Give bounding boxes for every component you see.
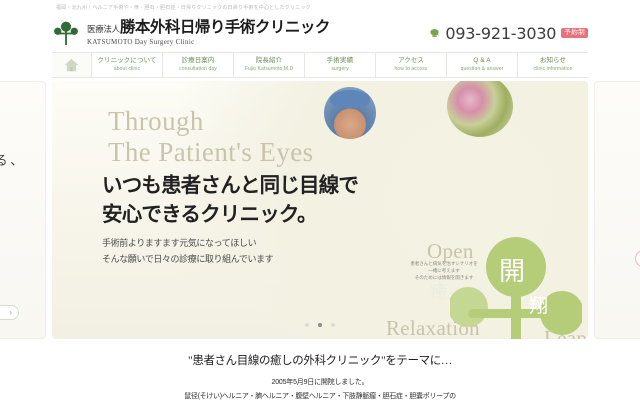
nav-label-en: question & answer bbox=[461, 67, 504, 72]
clinic-name: 勝本外科日帰り手術クリニック bbox=[120, 20, 330, 36]
carousel-slide-active[interactable]: Through The Patient's Eyes いつも患者さんと同じ目線で… bbox=[52, 81, 588, 339]
intro-title: "患者さん目線の癒しの外科クリニック"をテーマに… bbox=[0, 352, 640, 368]
carousel-dot-2[interactable] bbox=[318, 323, 322, 327]
nav-label-en: surgery bbox=[331, 67, 348, 72]
intro-services: 鼠径(そけい)ヘルニア・臍ヘルニア・腹壁ヘルニア・下肢静脈瘤・胆石症・胆嚢ポリー… bbox=[0, 391, 640, 400]
telephone-icon bbox=[429, 28, 440, 39]
concept-kanji-relaxation: 癒 bbox=[430, 284, 448, 302]
nav-item-director-profile[interactable]: 院長紹介 Fujio Katsumoto,M.D bbox=[234, 53, 305, 77]
hero-japanese-headline: いつも患者さんと同じ目線で 安心できるクリニック。 bbox=[102, 171, 358, 229]
nav-label-ja: 院長紹介 bbox=[256, 58, 282, 65]
peek-left-button[interactable]: › bbox=[0, 305, 19, 320]
intro-section: "患者さん目線の癒しの外科クリニック"をテーマに… 2005年5月9日に開院しま… bbox=[0, 339, 640, 400]
nav-item-consultation-day[interactable]: 診療日案内 consultation day bbox=[163, 53, 234, 77]
page-root: 福岡・北九州｜ヘルニア手術や・痔・胆石・胆石症・日帰りクリニックの日帰り手術を中… bbox=[0, 0, 640, 400]
concept-kanji-open: 開 bbox=[499, 259, 525, 285]
nav-label-en: Fujio Katsumoto,M.D bbox=[245, 67, 294, 72]
clinic-name-en: KATSUMOTO Day Surgery Clinic bbox=[87, 38, 330, 46]
nav-label-ja: アクセス bbox=[398, 58, 424, 65]
nav-label-ja: 診療日案内 bbox=[182, 58, 215, 65]
nav-item-home[interactable] bbox=[52, 53, 92, 77]
concept-english-leap: Leap bbox=[544, 326, 587, 339]
site-header: 医療法人 勝本外科日帰り手術クリニック KATSUMOTO Day Surger… bbox=[0, 14, 640, 52]
nav-label-ja: Q & A bbox=[473, 58, 490, 65]
doctor-photo bbox=[324, 87, 376, 139]
nav-item-surgery[interactable]: 手術実績 surgery bbox=[305, 53, 376, 77]
tree-logo-icon bbox=[52, 19, 80, 47]
nav-label-en: clinic information bbox=[533, 67, 572, 72]
carousel-dots bbox=[0, 323, 640, 327]
brand-logo-block[interactable]: 医療法人 勝本外科日帰り手術クリニック KATSUMOTO Day Surger… bbox=[52, 19, 330, 47]
carousel-dot-3[interactable] bbox=[331, 323, 335, 327]
nav-label-ja: クリニックについて bbox=[97, 58, 156, 65]
brand-text-block: 医療法人 勝本外科日帰り手術クリニック KATSUMOTO Day Surger… bbox=[87, 20, 330, 46]
top-description-bar: 福岡・北九州｜ヘルニア手術や・痔・胆石・胆石症・日帰りクリニックの日帰り手術を中… bbox=[0, 0, 640, 14]
top-description-text: 福岡・北九州｜ヘルニア手術や・痔・胆石・胆石症・日帰りクリニックの日帰り手術を中… bbox=[56, 4, 311, 11]
chevron-right-icon: › bbox=[9, 308, 12, 317]
peek-right-pill[interactable] bbox=[635, 250, 640, 267]
intro-open-date: 2005年5月9日に開院しました。 bbox=[0, 377, 640, 387]
corporation-prefix: 医療法人 bbox=[87, 23, 120, 35]
hero-subtext: 手術前よりますます元気になってほしい そんな願いで日々の診療に取り組んでいます bbox=[102, 236, 273, 268]
nav-item-clinic-information[interactable]: お知らせ clinic information bbox=[518, 53, 588, 77]
nav-label-ja: 手術実績 bbox=[327, 58, 353, 65]
concept-english-relaxation: Relaxation bbox=[386, 316, 480, 339]
nav-label-en: consultation day bbox=[179, 67, 217, 72]
nav-item-about-clinic[interactable]: クリニックについて about clinic bbox=[92, 53, 163, 77]
nav-item-qa[interactable]: Q & A question & answer bbox=[447, 53, 518, 77]
hero-carousel: tein 、 る 、 › 日 す そ Through The Patient's bbox=[0, 81, 640, 339]
home-icon bbox=[64, 58, 79, 72]
nav-label-ja: お知らせ bbox=[540, 58, 566, 65]
concept-description-open: 患者さんと病気を治すシナリオを 一緒に考えます そのためには情報を開きます bbox=[392, 261, 496, 282]
nav-item-access[interactable]: アクセス how to access bbox=[376, 53, 447, 77]
phone-number[interactable]: 093-921-3030 bbox=[445, 24, 556, 43]
flowers-photo bbox=[447, 81, 513, 137]
carousel-slide-previous[interactable]: tein 、 る 、 › bbox=[0, 81, 46, 339]
reservation-badge: 予約制 bbox=[561, 28, 588, 39]
concept-kanji-leap: 翔 bbox=[529, 297, 548, 316]
peek-left-lines-fragment: 、 る 、 bbox=[0, 148, 23, 173]
phone-block[interactable]: 093-921-3030 予約制 bbox=[429, 24, 588, 43]
nav-label-en: about clinic bbox=[114, 67, 140, 72]
main-navigation: クリニックについて about clinic 診療日案内 consultatio… bbox=[52, 52, 588, 78]
hero-english-headline: Through The Patient's Eyes bbox=[108, 106, 314, 169]
nav-label-en: how to access bbox=[395, 67, 428, 72]
carousel-slide-next[interactable]: 日 す そ bbox=[594, 81, 640, 339]
carousel-dot-1[interactable] bbox=[305, 323, 309, 327]
